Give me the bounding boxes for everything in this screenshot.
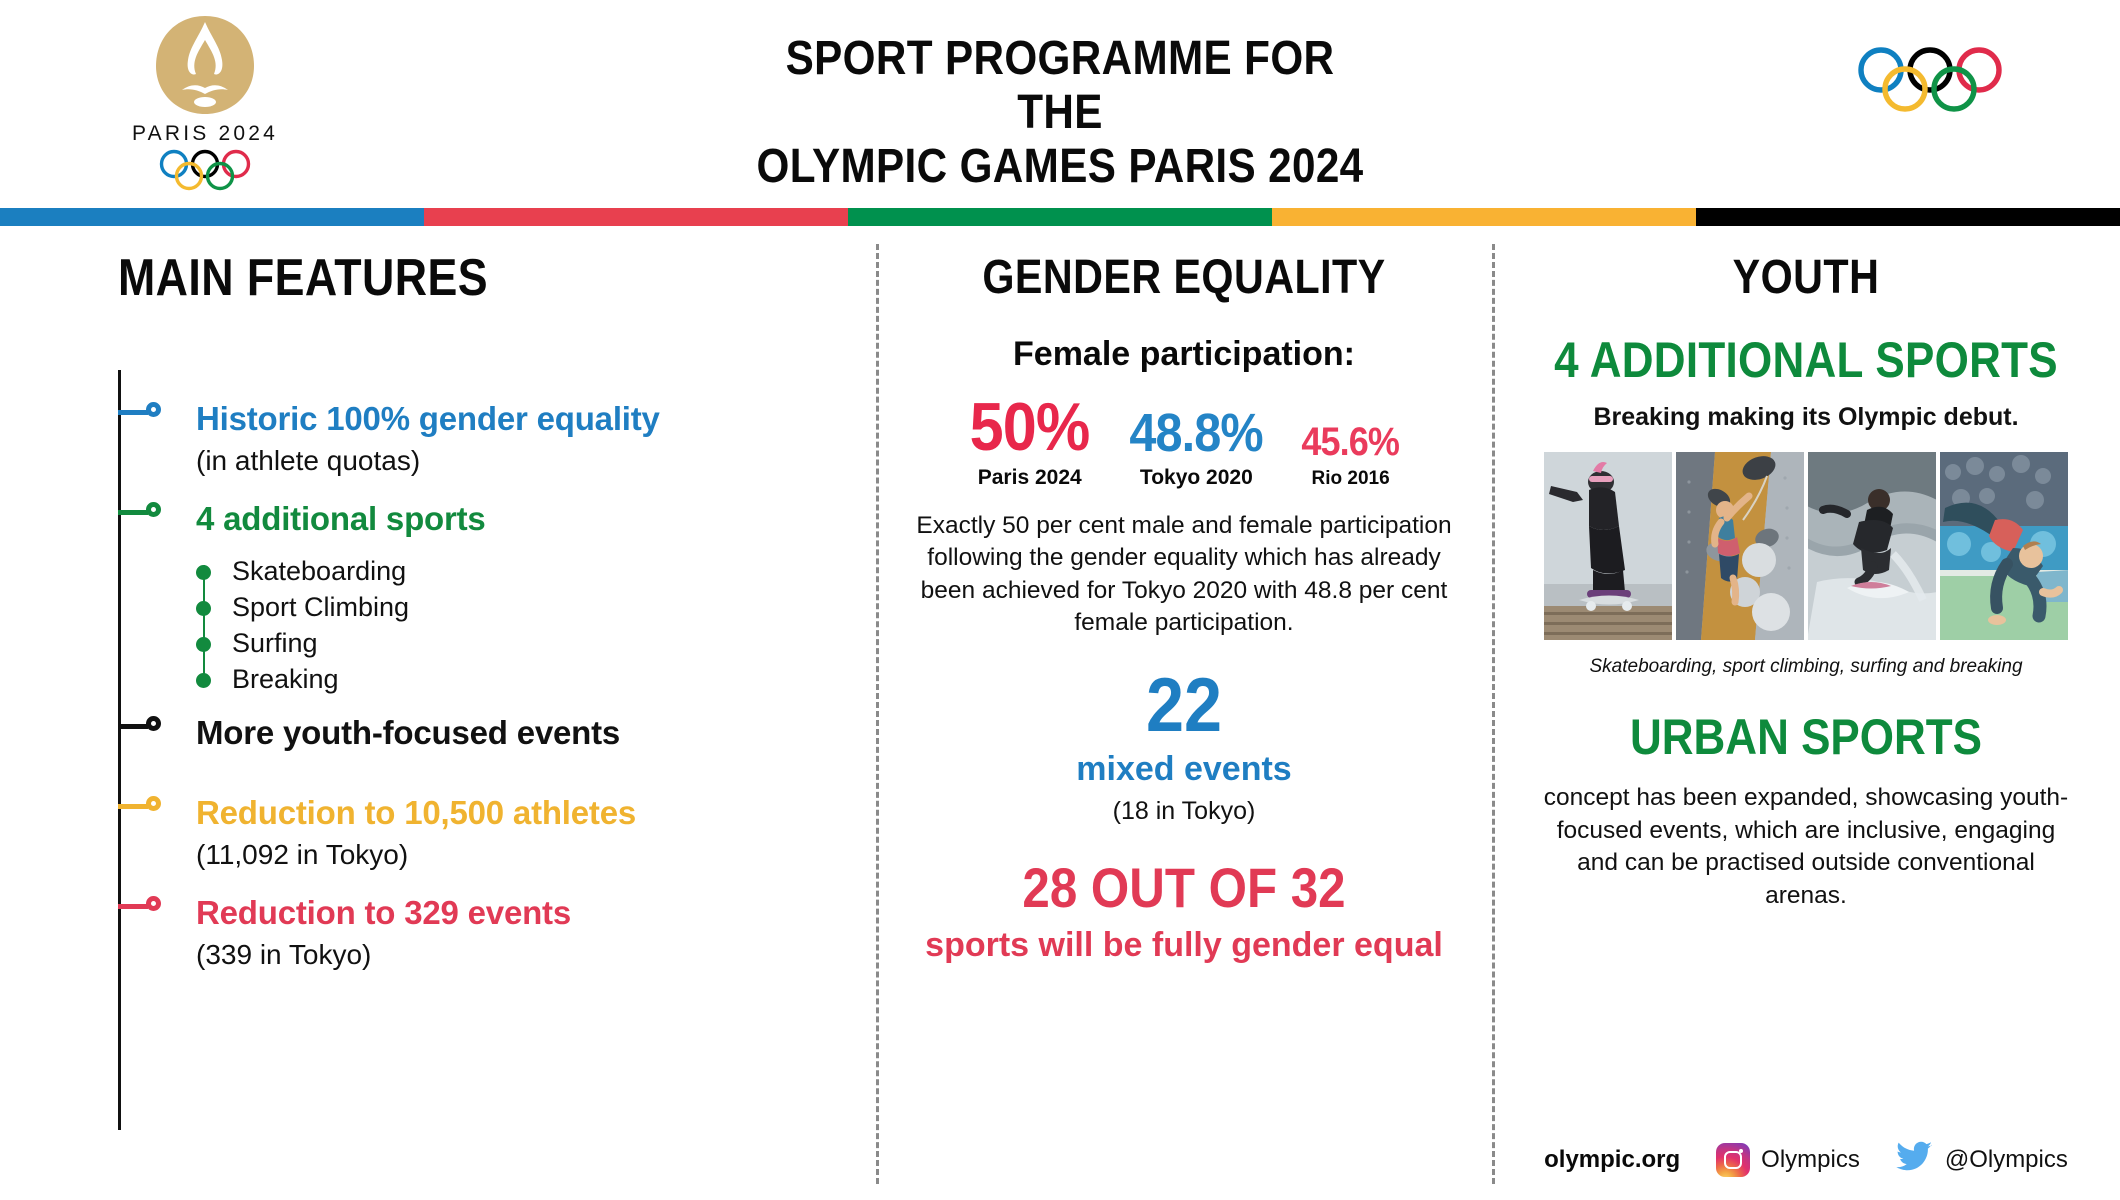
- header: PARIS 2024 SPORT PROGRAMME FOR THE OLYMP…: [0, 0, 2120, 208]
- female-participation-label: Female participation:: [876, 335, 1492, 374]
- timeline-item-subtext: (11,092 in Tokyo): [196, 840, 770, 871]
- column-youth: YOUTH 4 ADDITIONAL SPORTS Breaking makin…: [1492, 226, 2120, 1200]
- skateboarding-photo: [1544, 452, 1672, 640]
- timeline-stub: [118, 510, 148, 515]
- photo-strip-caption: Skateboarding, sport climbing, surfing a…: [1492, 656, 2120, 678]
- timeline-marker: [146, 502, 161, 517]
- infographic-page: PARIS 2024 SPORT PROGRAMME FOR THE OLYMP…: [0, 0, 2120, 1200]
- column-gender-equality: GENDER EQUALITY Female participation: 50…: [876, 226, 1492, 964]
- bullet-dot-icon: [196, 565, 211, 580]
- twitter-icon: [1896, 1141, 1934, 1178]
- stat-tokyo-2020: 48.8% Tokyo 2020: [1122, 409, 1270, 490]
- list-item: Surfing: [196, 625, 770, 661]
- colorbar-segment-green: [848, 208, 1272, 226]
- timeline-marker: [146, 402, 161, 417]
- column-main-features: MAIN FEATURES Historic 100% gender equal…: [0, 226, 876, 1156]
- stat-caption: Rio 2016: [1296, 468, 1404, 490]
- olympic-color-bar: [0, 208, 2120, 226]
- timeline-stub: [118, 804, 148, 809]
- bullet-dot-icon: [196, 601, 211, 616]
- page-title-line1: SPORT PROGRAMME FOR THE: [786, 32, 1335, 139]
- timeline-item-label: 4 additional sports: [196, 502, 770, 537]
- sport-climbing-photo: [1676, 452, 1804, 640]
- timeline-item-label: Historic 100% gender equality: [196, 402, 770, 437]
- timeline-item-label: Reduction to 10,500 athletes: [196, 796, 770, 831]
- twitter-handle: @Olympics: [1945, 1146, 2068, 1174]
- stat-value: 45.6%: [1302, 424, 1400, 461]
- website-link[interactable]: olympic.org: [1544, 1146, 1680, 1174]
- youth-heading: YOUTH: [1536, 250, 2076, 305]
- paris-flame-icon: [146, 14, 264, 120]
- timeline-marker: [146, 796, 161, 811]
- timeline-item-label: More youth-focused events: [196, 716, 770, 751]
- timeline-item-youth-events: More youth-focused events: [0, 716, 770, 751]
- timeline-item-subtext: (339 in Tokyo): [196, 940, 770, 971]
- sports-photo-strip: [1544, 452, 2068, 640]
- timeline-stub: [118, 904, 148, 909]
- urban-sports-heading: URBAN SPORTS: [1530, 708, 2083, 766]
- mixed-events-subtext: (18 in Tokyo): [876, 797, 1492, 826]
- instagram-icon: [1716, 1143, 1750, 1177]
- timeline-item-gender-equality: Historic 100% gender equality (in athlet…: [0, 402, 770, 476]
- sports-gender-equal-caption: sports will be fully gender equal: [876, 926, 1492, 964]
- sport-name: Skateboarding: [232, 556, 406, 586]
- participation-stats: 50% Paris 2024 48.8% Tokyo 2020 45.6% Ri…: [876, 396, 1492, 490]
- surfing-photo: [1808, 452, 1936, 640]
- timeline-item-label: Reduction to 329 events: [196, 896, 770, 931]
- paris-2024-wordmark: PARIS 2024: [132, 122, 278, 146]
- breaking-debut-text: Breaking making its Olympic debut.: [1492, 403, 2120, 432]
- timeline-item-additional-sports: 4 additional sports Skateboarding Sport …: [0, 502, 770, 697]
- stat-rio-2016: 45.6% Rio 2016: [1296, 424, 1404, 490]
- list-item: Sport Climbing: [196, 589, 770, 625]
- breaking-photo: [1940, 452, 2068, 640]
- list-item: Skateboarding: [196, 553, 770, 589]
- stat-value: 48.8%: [1130, 409, 1263, 459]
- mixed-events-number: 22: [907, 670, 1461, 742]
- urban-sports-paragraph: concept has been expanded, showcasing yo…: [1536, 782, 2076, 912]
- sports-gender-equal-number: 28 OUT OF 32: [913, 860, 1455, 916]
- timeline-stub: [118, 410, 148, 415]
- stat-caption: Tokyo 2020: [1122, 466, 1270, 490]
- timeline-item-athlete-reduction: Reduction to 10,500 athletes (11,092 in …: [0, 796, 770, 870]
- timeline-marker: [146, 896, 161, 911]
- bullet-dot-icon: [196, 673, 211, 688]
- content-columns: MAIN FEATURES Historic 100% gender equal…: [0, 226, 2120, 1200]
- mixed-events-label: mixed events: [876, 750, 1492, 789]
- paris-2024-logo: PARIS 2024: [110, 14, 300, 192]
- colorbar-segment-black: [1696, 208, 2120, 226]
- main-features-timeline: Historic 100% gender equality (in athlet…: [0, 356, 876, 1156]
- instagram-handle: Olympics: [1761, 1146, 1860, 1174]
- page-title-line2: OLYMPIC GAMES PARIS 2024: [743, 140, 1377, 194]
- sport-name: Breaking: [232, 664, 339, 694]
- timeline-item-event-reduction: Reduction to 329 events (339 in Tokyo): [0, 896, 770, 970]
- colorbar-segment-red: [424, 208, 848, 226]
- bullet-dot-icon: [196, 637, 211, 652]
- instagram-link[interactable]: Olympics: [1716, 1143, 1860, 1177]
- olympic-rings-icon: [1855, 46, 2005, 119]
- page-title: SPORT PROGRAMME FOR THE OLYMPIC GAMES PA…: [743, 32, 1377, 193]
- twitter-link[interactable]: @Olympics: [1896, 1141, 2068, 1178]
- timeline-item-subtext: (in athlete quotas): [196, 446, 770, 477]
- list-item: Breaking: [196, 661, 770, 697]
- additional-sports-list: Skateboarding Sport Climbing Surfing: [196, 553, 770, 697]
- gender-equality-heading: GENDER EQUALITY: [919, 250, 1449, 305]
- main-features-heading: MAIN FEATURES: [118, 248, 770, 308]
- stat-caption: Paris 2024: [963, 466, 1096, 490]
- gender-equality-paragraph: Exactly 50 per cent male and female part…: [914, 510, 1454, 640]
- timeline-marker: [146, 716, 161, 731]
- colorbar-segment-yellow: [1272, 208, 1696, 226]
- sport-name: Sport Climbing: [232, 592, 409, 622]
- sport-name: Surfing: [232, 628, 318, 658]
- stat-value: 50%: [970, 396, 1090, 459]
- social-footer: olympic.org Olympics @Olympics: [1492, 1141, 2120, 1178]
- timeline-stub: [118, 724, 148, 729]
- additional-sports-heading: 4 ADDITIONAL SPORTS: [1530, 331, 2083, 389]
- stat-paris-2024: 50% Paris 2024: [963, 396, 1096, 490]
- olympic-rings-icon-small: [158, 149, 252, 196]
- colorbar-segment-blue: [0, 208, 424, 226]
